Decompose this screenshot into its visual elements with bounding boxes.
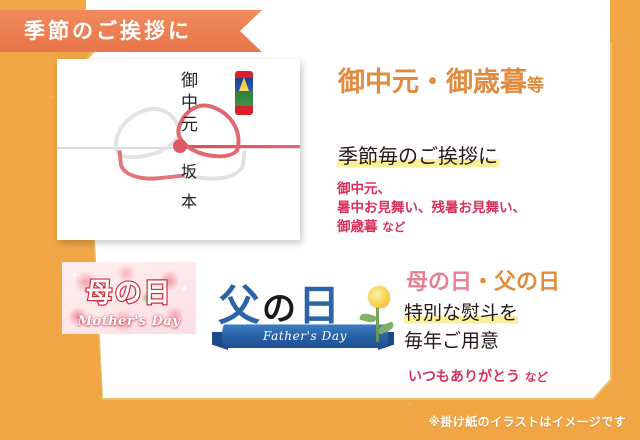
rose-leaf-icon — [359, 312, 377, 325]
seasonal-example-3: 御歳暮 — [337, 219, 378, 235]
parents-example-suffix: など — [525, 370, 548, 384]
parents-day-heading: 母の日・父の日 — [406, 264, 560, 296]
fathers-day-logo: 父の日 Father's Day — [218, 272, 398, 358]
parents-subheading: 特別な熨斗を 毎年ご用意 — [404, 300, 518, 355]
yellow-rose-icon — [368, 286, 390, 308]
fathers-day-banner: Father's Day — [222, 324, 388, 348]
sparkle-icon: ✧ — [162, 318, 170, 329]
header-ribbon: 季節のご挨拶に — [0, 10, 262, 52]
fathers-day-banner-label: Father's Day — [263, 329, 347, 343]
parents-example-text: いつもありがとう — [408, 369, 520, 385]
mothers-day-jp-label: 母の日 — [62, 271, 196, 310]
mothers-day-en-label: Mother's Day — [62, 314, 196, 329]
parents-subheading-line1-row: 特別な熨斗を — [404, 300, 518, 328]
seasonal-example-1: 御中元、 — [337, 180, 526, 199]
seasonal-examples: 御中元、 暑中お見舞い、残暑お見舞い、 御歳暮 など — [337, 180, 526, 237]
noshi-name-text: 坂本 — [175, 163, 199, 223]
fathers-day-jp-last: 日 — [298, 281, 342, 330]
noshi-title-text: 御中元 — [175, 71, 200, 137]
seasonal-example-3-row: 御歳暮 など — [337, 218, 526, 237]
rose-stem — [376, 306, 379, 342]
promo-banner: 季節のご挨拶に 御中元 坂本 御中元・御歳暮等 季節毎のご挨拶に 御中元、 暑中… — [0, 0, 640, 440]
seasonal-heading: 御中元・御歳暮等 — [338, 60, 544, 99]
noshi-sample-card: 御中元 坂本 — [57, 59, 300, 240]
parents-subheading-line1: 特別な熨斗を — [404, 302, 518, 324]
seasonal-subheading-text: 季節毎のご挨拶に — [337, 144, 499, 168]
seasonal-heading-main: 御中元・御歳暮 — [338, 67, 527, 98]
parents-heading-father: 父の日 — [494, 270, 560, 295]
seasonal-examples-suffix: など — [382, 220, 405, 234]
parents-heading-dot: ・ — [472, 270, 494, 295]
footer-note: ※掛け紙のイラストはイメージです — [428, 413, 626, 430]
seasonal-example-2: 暑中お見舞い、残暑お見舞い、 — [337, 199, 526, 218]
sparkle-icon: ✦ — [180, 284, 188, 295]
mizuhiki-knot — [173, 139, 187, 153]
header-ribbon-label: 季節のご挨拶に — [0, 21, 192, 42]
mothers-day-card: 母の日 Mother's Day ✦ ✦ ✧ — [62, 262, 196, 334]
fathers-day-jp-no: の — [262, 289, 298, 329]
seasonal-subheading: 季節毎のご挨拶に — [337, 140, 499, 169]
parents-example: いつもありがとう など — [408, 366, 548, 386]
parents-heading-mother: 母の日 — [406, 270, 472, 295]
parents-subheading-line2: 毎年ご用意 — [404, 328, 518, 356]
fathers-day-jp-first: 父 — [218, 281, 262, 330]
sparkle-icon: ✦ — [70, 270, 78, 281]
seasonal-heading-suffix: 等 — [527, 76, 544, 96]
